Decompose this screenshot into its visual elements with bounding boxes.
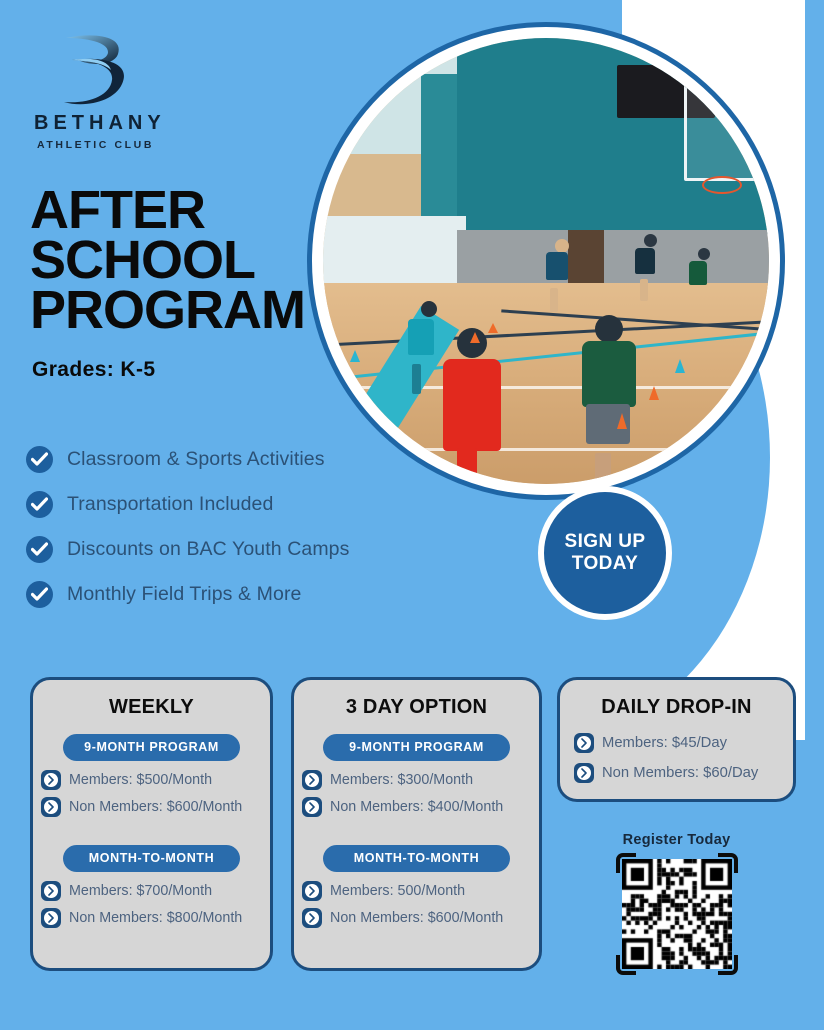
qr-corner-top-left-icon <box>616 853 636 873</box>
feature-label: Classroom & Sports Activities <box>67 448 325 471</box>
headline-line-3: PROGRAM <box>30 285 305 335</box>
price-list: Members: $45/Day Non Members: $60/Day <box>560 733 793 783</box>
price-row: Non Members: $60/Day <box>574 763 793 783</box>
price-list: Members: 500/Month Non Members: $600/Mon… <box>294 881 539 928</box>
pricing-card-3-day-option[interactable]: 3 DAY OPTION 9-MONTH PROGRAM Members: $3… <box>291 677 542 971</box>
brand-logo: BETHANY ATHLETIC CLUB <box>34 30 224 151</box>
check-circle-icon <box>26 491 53 518</box>
qr-corner-top-right-icon <box>718 853 738 873</box>
plan-pill-9-month: 9-MONTH PROGRAM <box>323 734 510 761</box>
pricing-card-weekly[interactable]: WEEKLY 9-MONTH PROGRAM Members: $500/Mon… <box>30 677 273 971</box>
check-circle-icon <box>26 536 53 563</box>
qr-corner-bottom-left-icon <box>616 955 636 975</box>
feature-label: Transportation Included <box>67 493 273 516</box>
feature-list: Classroom & Sports Activities Transporta… <box>26 437 349 617</box>
register-label: Register Today <box>557 832 796 848</box>
qr-code-icon[interactable] <box>622 859 732 969</box>
price-list: Members: $300/Month Non Members: $400/Mo… <box>294 770 539 817</box>
signup-line-2: TODAY <box>572 553 638 575</box>
feature-item: Classroom & Sports Activities <box>26 437 349 481</box>
signup-line-1: SIGN UP <box>565 531 646 553</box>
price-text: Members: $45/Day <box>602 735 727 751</box>
chevron-right-icon <box>41 908 61 928</box>
price-text: Non Members: $600/Month <box>69 799 242 815</box>
price-text: Non Members: $800/Month <box>69 910 242 926</box>
price-text: Non Members: $400/Month <box>330 799 503 815</box>
feature-label: Monthly Field Trips & More <box>67 583 302 606</box>
card-title: WEEKLY <box>33 696 270 719</box>
page-title: AFTER SCHOOL PROGRAM <box>30 185 305 336</box>
poster-canvas: BETHANY ATHLETIC CLUB AFTER SCHOOL PROGR… <box>0 0 824 1030</box>
price-row: Members: $700/Month <box>41 881 270 901</box>
price-row: Members: $300/Month <box>302 770 539 790</box>
price-text: Members: $700/Month <box>69 883 212 899</box>
check-circle-icon <box>26 446 53 473</box>
headline-line-2: SCHOOL <box>30 235 305 285</box>
register-section: Register Today <box>557 832 796 969</box>
check-circle-icon <box>26 581 53 608</box>
chevron-right-icon <box>302 881 322 901</box>
feature-label: Discounts on BAC Youth Camps <box>67 538 349 561</box>
pricing-card-daily-drop-in[interactable]: DAILY DROP-IN Members: $45/Day Non Membe… <box>557 677 796 802</box>
price-text: Non Members: $60/Day <box>602 765 758 781</box>
price-text: Members: $300/Month <box>330 772 473 788</box>
chevron-right-icon <box>574 733 594 753</box>
logo-swoosh-b-icon <box>48 30 140 110</box>
chevron-right-icon <box>302 770 322 790</box>
price-row: Members: $45/Day <box>574 733 793 753</box>
grades-label: Grades: K-5 <box>32 358 155 382</box>
logo-subtitle: ATHLETIC CLUB <box>37 139 224 151</box>
background-blue-right-strip <box>805 0 824 1030</box>
price-row: Non Members: $600/Month <box>41 797 270 817</box>
price-list: Members: $500/Month Non Members: $600/Mo… <box>33 770 270 817</box>
hero-photo-ring <box>307 22 785 500</box>
basketball-backboard <box>684 83 755 181</box>
plan-pill-month-to-month: MONTH-TO-MONTH <box>63 845 240 872</box>
chevron-right-icon <box>41 770 61 790</box>
plan-pill-month-to-month: MONTH-TO-MONTH <box>323 845 510 872</box>
hero-photo <box>323 38 769 484</box>
feature-item: Monthly Field Trips & More <box>26 572 349 616</box>
sign-up-today-badge[interactable]: SIGN UP TODAY <box>538 486 672 620</box>
price-row: Non Members: $800/Month <box>41 908 270 928</box>
chevron-right-icon <box>302 908 322 928</box>
price-text: Members: $500/Month <box>69 772 212 788</box>
price-row: Non Members: $400/Month <box>302 797 539 817</box>
price-row: Members: 500/Month <box>302 881 539 901</box>
price-text: Non Members: $600/Month <box>330 910 503 926</box>
chevron-right-icon <box>41 881 61 901</box>
plan-pill-9-month: 9-MONTH PROGRAM <box>63 734 240 761</box>
chevron-right-icon <box>41 797 61 817</box>
price-text: Members: 500/Month <box>330 883 465 899</box>
chevron-right-icon <box>574 763 594 783</box>
chevron-right-icon <box>302 797 322 817</box>
card-title: 3 DAY OPTION <box>294 696 539 719</box>
qr-code-frame[interactable] <box>622 859 732 969</box>
logo-name: BETHANY <box>34 112 224 135</box>
price-row: Non Members: $600/Month <box>302 908 539 928</box>
price-list: Members: $700/Month Non Members: $800/Mo… <box>33 881 270 928</box>
headline-line-1: AFTER <box>30 185 305 235</box>
card-title: DAILY DROP-IN <box>560 696 793 719</box>
qr-corner-bottom-right-icon <box>718 955 738 975</box>
feature-item: Transportation Included <box>26 482 349 526</box>
price-row: Members: $500/Month <box>41 770 270 790</box>
feature-item: Discounts on BAC Youth Camps <box>26 527 349 571</box>
